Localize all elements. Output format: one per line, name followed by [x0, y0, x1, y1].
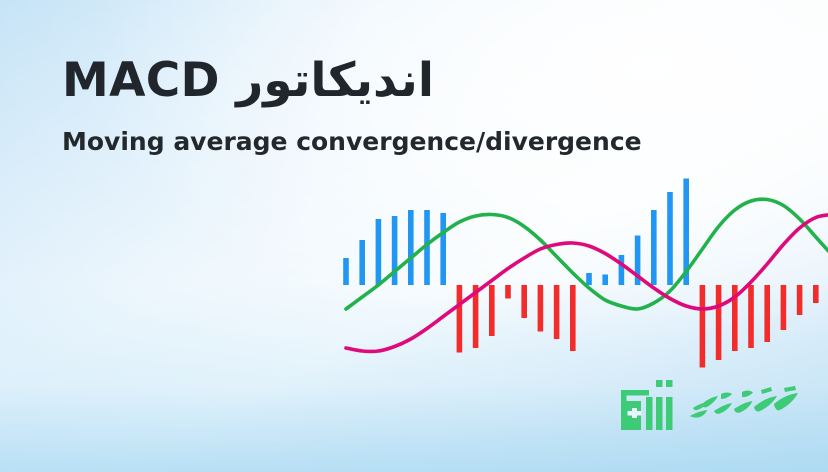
macd-histogram-bar	[764, 285, 770, 342]
macd-chart-svg	[330, 168, 828, 378]
macd-histogram-bar	[440, 213, 446, 285]
macd-histogram-bar	[554, 285, 560, 339]
macd-histogram-bar	[376, 219, 382, 285]
macd-chart	[330, 168, 828, 378]
macd-histogram-bar	[748, 285, 754, 348]
macd-histogram-bar	[781, 285, 787, 330]
macd-histogram-bar	[408, 210, 414, 285]
macd-infographic-banner: اندیکاتور MACD Moving average convergenc…	[0, 0, 828, 472]
macd-histogram-bar	[521, 285, 527, 318]
bar-chart-logo-mark-icon	[621, 380, 675, 430]
macd-histogram-bar	[538, 285, 544, 332]
macd-histogram-bar	[505, 285, 511, 299]
macd-histogram-bar	[700, 285, 706, 368]
macd-histogram-bar	[343, 258, 349, 285]
macd-histogram-bar	[359, 240, 365, 285]
macd-histogram-bar	[651, 210, 657, 285]
page-title: اندیکاتور MACD	[0, 52, 620, 110]
macd-histogram-bar	[716, 285, 722, 360]
macd-line-path	[346, 199, 828, 309]
macd-histogram-bar	[457, 285, 463, 353]
brand-logo: کارگزاری آتی ساز	[621, 380, 804, 430]
macd-histogram-bar	[667, 192, 673, 285]
page-subtitle: Moving average convergence/divergence	[0, 126, 620, 158]
header-block: اندیکاتور MACD Moving average convergenc…	[0, 52, 620, 158]
macd-histogram-bar	[602, 275, 608, 286]
macd-histogram-bars	[343, 179, 828, 368]
macd-histogram-bar	[570, 285, 576, 351]
macd-histogram-bar	[619, 255, 625, 285]
macd-histogram-bar	[813, 285, 819, 303]
macd-histogram-bar	[586, 273, 592, 285]
brand-wordmark-icon	[686, 385, 804, 425]
macd-histogram-bar	[489, 285, 495, 336]
macd-histogram-bar	[797, 285, 803, 315]
